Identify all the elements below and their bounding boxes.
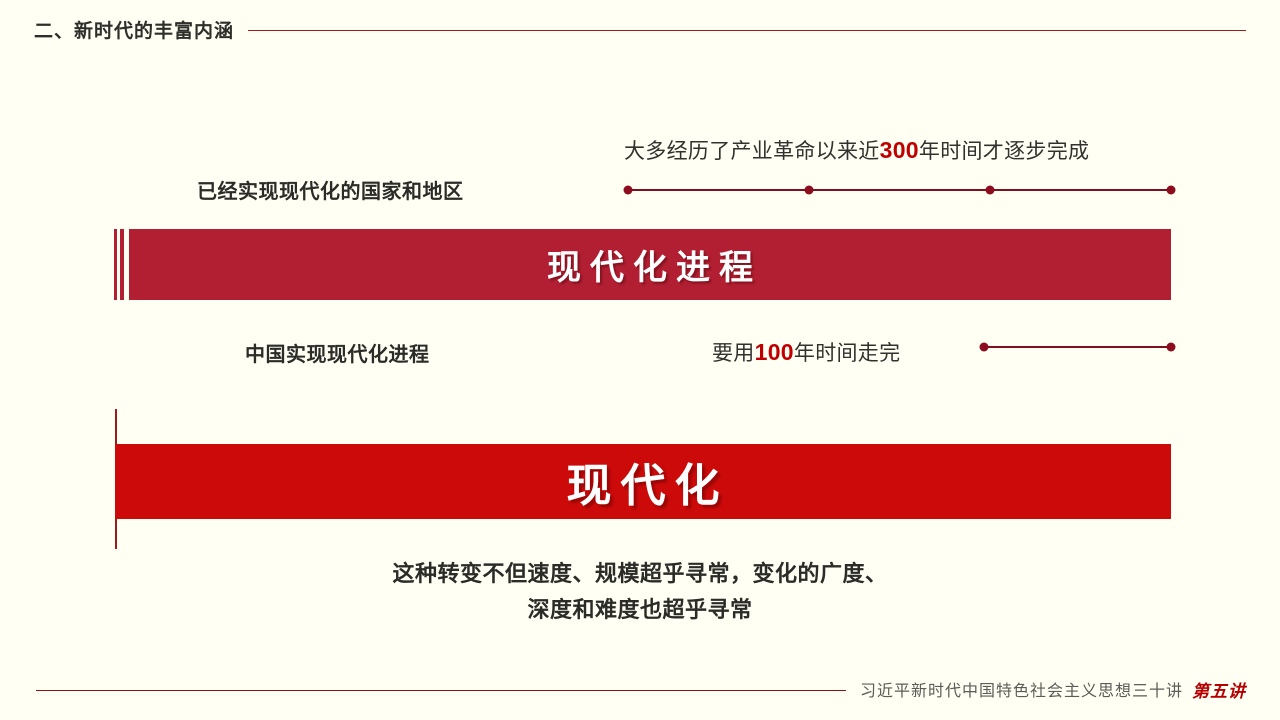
timeline-dot — [805, 186, 814, 195]
banner-modernization-process: 现代化进程 — [114, 229, 1171, 300]
row1-caption-suffix: 年时间才逐步完成 — [919, 140, 1089, 163]
slide-header: 二、新时代的丰富内涵 — [0, 12, 1280, 46]
row1-label: 已经实现现代化的国家和地区 — [197, 175, 464, 204]
banner-modernization: 现代化 — [115, 444, 1171, 519]
banner-2-text: 现代化 — [557, 449, 728, 514]
row2-label: 中国实现现代化进程 — [245, 338, 430, 367]
statement-line-1: 这种转变不但速度、规模超乎寻常，变化的广度、 — [0, 556, 1280, 592]
banner-stripe-accent-2 — [120, 229, 124, 300]
row1-timeline — [628, 185, 1171, 195]
slide-footer: 习近平新时代中国特色社会主义思想三十讲 第五讲 — [0, 672, 1280, 706]
row1-caption: 大多经历了产业革命以来近300年时间才逐步完成 — [624, 135, 1089, 165]
banner-body: 现代化进程 — [129, 229, 1171, 300]
timeline-dot — [1167, 186, 1176, 195]
row2-caption: 要用100年时间走完 — [712, 337, 900, 367]
header-divider — [248, 30, 1246, 31]
page-title: 二、新时代的丰富内涵 — [34, 16, 234, 43]
closing-statement: 这种转变不但速度、规模超乎寻常，变化的广度、 深度和难度也超乎寻常 — [0, 556, 1280, 628]
footer-series-title: 习近平新时代中国特色社会主义思想三十讲 — [860, 677, 1183, 701]
banner-1-text: 现代化进程 — [538, 240, 762, 289]
footer-divider — [36, 690, 846, 691]
timeline-line — [984, 346, 1171, 348]
row2-caption-prefix: 要用 — [712, 342, 755, 365]
timeline-dot — [1167, 343, 1176, 352]
timeline-dot — [986, 186, 995, 195]
row1-caption-prefix: 大多经历了产业革命以来近 — [624, 140, 880, 163]
slide-root: 二、新时代的丰富内涵 大多经历了产业革命以来近300年时间才逐步完成 已经实现现… — [0, 0, 1280, 720]
row2-timeline — [984, 342, 1171, 352]
row2-caption-highlight: 100 — [755, 339, 794, 365]
banner-stripe-accent-1 — [114, 229, 117, 300]
timeline-dot — [980, 343, 989, 352]
row1-caption-highlight: 300 — [880, 137, 919, 163]
timeline-line — [628, 189, 1171, 191]
statement-line-2: 深度和难度也超乎寻常 — [0, 592, 1280, 628]
timeline-dot — [624, 186, 633, 195]
footer-lecture-number: 第五讲 — [1192, 677, 1246, 702]
row2-caption-suffix: 年时间走完 — [794, 342, 901, 365]
